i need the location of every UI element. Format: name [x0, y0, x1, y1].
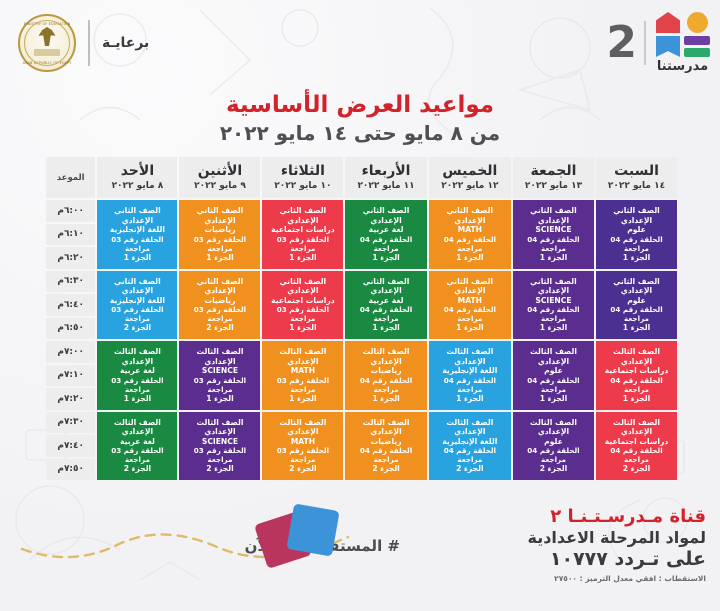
day-date: ١٢ مايو ٢٠٢٢ — [431, 181, 509, 191]
programme-subject: علوم — [516, 437, 591, 446]
bar-icon — [684, 36, 710, 45]
programme-subject: رياضيات — [182, 296, 257, 305]
programme-grade: الصف الثالث الإعدادي — [100, 347, 174, 366]
programme-grade: الصف الثالث الإعدادي — [432, 347, 508, 366]
page-subtitle: من ٨ مايو حتى ١٤ مايو ٢٠٢٢ — [0, 121, 720, 145]
page-footer: # المستقبل يبدأ الآن قناة مـدرسـتـنـا ٢ … — [0, 491, 720, 611]
programme-subject: علوم — [599, 225, 674, 234]
programme-part: الجزء 1 — [265, 394, 340, 403]
branding-divider — [644, 21, 646, 65]
programme-cell[interactable]: الصف الثالث الإعداديرياضياتالحلقة رقم 04… — [345, 412, 426, 481]
programme-subject: رياضيات — [348, 366, 423, 375]
programme-episode: الحلقة رقم 04 مراجعة — [599, 446, 674, 464]
time-slot: ٦:١٠م — [46, 224, 95, 246]
time-slot: ٧:١٠م — [46, 365, 95, 387]
programme-grade: الصف الثاني الإعدادي — [100, 206, 174, 225]
time-column-header: الموعد — [46, 157, 95, 198]
programme-cell[interactable]: الصف الثالث الإعداديعلومالحلقة رقم 04 مر… — [513, 412, 594, 481]
programme-grade: الصف الثالث الإعدادي — [516, 418, 591, 437]
programme-subject: SCIENCE — [182, 366, 257, 375]
programme-part: الجزء 1 — [432, 394, 508, 403]
programme-subject: SCIENCE — [182, 437, 257, 446]
programme-cell[interactable]: الصف الثالث الإعداديSCIENCEالحلقة رقم 03… — [179, 341, 260, 410]
programme-cell[interactable]: الصف الثاني الإعداديعلومالحلقة رقم 04 مر… — [596, 271, 677, 340]
programme-subject: لغة عربية — [348, 296, 423, 305]
programme-subject: علوم — [599, 296, 674, 305]
programme-subject: اللغة الإنجليزية — [432, 437, 508, 446]
time-slot: ٦:٠٠م — [46, 200, 95, 222]
programme-subject: رياضيات — [348, 437, 423, 446]
programme-episode: الحلقة رقم 04 مراجعة — [432, 376, 508, 394]
schedule-row: الصف الثالث الإعداديدراسات اجتماعيةالحلق… — [46, 341, 677, 363]
day-name: الجمعة — [515, 163, 592, 179]
programme-grade: الصف الثالث الإعدادي — [348, 418, 423, 437]
programme-subject: SCIENCE — [516, 296, 591, 305]
programme-cell[interactable]: الصف الثالث الإعداديدراسات اجتماعيةالحلق… — [596, 412, 677, 481]
programme-cell[interactable]: الصف الثاني الإعداديعلومالحلقة رقم 04 مر… — [596, 200, 677, 269]
programme-cell[interactable]: الصف الثالث الإعدادياللغة الإنجليزيةالحل… — [429, 341, 511, 410]
programme-episode: الحلقة رقم 04 مراجعة — [432, 305, 508, 323]
programme-part: الجزء 1 — [599, 323, 674, 332]
programme-episode: الحلقة رقم 03 مراجعة — [182, 235, 257, 253]
programme-part: الجزء 2 — [599, 464, 674, 473]
programme-cell[interactable]: الصف الثاني الإعداديMATHالحلقة رقم 04 مر… — [429, 200, 511, 269]
programme-cell[interactable]: الصف الثاني الإعداديلغة عربيةالحلقة رقم … — [345, 200, 426, 269]
channel-info-block: قناة مـدرسـتـنـا ٢ لمواد المرحلة الاعداد… — [527, 506, 706, 583]
schedule-row: الصف الثاني الإعداديعلومالحلقة رقم 04 مر… — [46, 200, 677, 222]
programme-cell[interactable]: الصف الثالث الإعدادياللغة الإنجليزيةالحل… — [429, 412, 511, 481]
programme-cell[interactable]: الصف الثاني الإعداديلغة عربيةالحلقة رقم … — [345, 271, 426, 340]
programme-grade: الصف الثالث الإعدادي — [516, 347, 591, 366]
day-name: الأحد — [99, 163, 175, 179]
programme-grade: الصف الثاني الإعدادي — [348, 206, 423, 225]
programme-subject: اللغة الإنجليزية — [100, 296, 174, 305]
seal-banner — [34, 49, 60, 56]
schedule-body: الصف الثاني الإعداديعلومالحلقة رقم 04 مر… — [46, 200, 677, 480]
programme-subject: اللغة الإنجليزية — [100, 225, 174, 234]
eagle-icon — [39, 27, 56, 46]
programme-part: الجزء 1 — [348, 253, 423, 262]
programme-part: الجزء 1 — [432, 323, 508, 332]
programme-grade: الصف الثاني الإعدادي — [348, 277, 423, 296]
programme-subject: اللغة الإنجليزية — [432, 366, 508, 375]
programme-grade: الصف الثاني الإعدادي — [265, 277, 340, 296]
programme-cell[interactable]: الصف الثالث الإعداديSCIENCEالحلقة رقم 03… — [179, 412, 260, 481]
programme-subject: دراسات اجتماعية — [265, 225, 340, 234]
time-slot: ٦:٣٠م — [46, 271, 95, 293]
day-date: ١٠ مايو ٢٠٢٢ — [264, 181, 341, 191]
day-header-5: الأثنين٩ مايو ٢٠٢٢ — [179, 157, 260, 198]
page-header: MINISTRY OF EDUCATION ARAB REPUBLIC OF E… — [0, 0, 720, 86]
programme-grade: الصف الثاني الإعدادي — [182, 277, 257, 296]
footer-frequency-line: على تـردد ١٠٧٧٧ — [527, 548, 706, 570]
programme-part: الجزء 1 — [516, 253, 591, 262]
day-date: ١٣ مايو ٢٠٢٢ — [515, 181, 592, 191]
time-slot: ٧:٥٠م — [46, 459, 95, 481]
schedule-row: الصف الثاني الإعداديعلومالحلقة رقم 04 مر… — [46, 271, 677, 293]
programme-part: الجزء 2 — [182, 464, 257, 473]
bar-icon — [684, 48, 710, 57]
programme-subject: دراسات اجتماعية — [599, 366, 674, 375]
programme-grade: الصف الثالث الإعدادي — [348, 347, 423, 366]
sponsor-block: MINISTRY OF EDUCATION ARAB REPUBLIC OF E… — [18, 14, 149, 72]
programme-episode: الحلقة رقم 03 مراجعة — [265, 446, 340, 464]
programme-part: الجزء 1 — [348, 394, 423, 403]
programme-episode: الحلقة رقم 03 مراجعة — [100, 446, 174, 464]
time-slot: ٦:٢٠م — [46, 247, 95, 269]
flag-icon — [656, 36, 680, 57]
programme-cell[interactable]: الصف الثاني الإعدادياللغة الإنجليزيةالحل… — [97, 200, 177, 269]
seal-top-text: MINISTRY OF EDUCATION — [20, 22, 74, 26]
schedule-table-wrapper: السبت١٤ مايو ٢٠٢٢الجمعة١٣ مايو ٢٠٢٢الخمي… — [44, 155, 679, 482]
footer-purpose-line: لمواد المرحلة الاعدادية — [527, 528, 706, 547]
programme-cell[interactable]: الصف الثالث الإعداديرياضياتالحلقة رقم 04… — [345, 341, 426, 410]
programme-episode: الحلقة رقم 04 مراجعة — [516, 235, 591, 253]
cubes-decoration — [258, 499, 344, 575]
programme-episode: الحلقة رقم 03 مراجعة — [265, 235, 340, 253]
programme-part: الجزء 1 — [432, 253, 508, 262]
channel-number: 2 — [606, 21, 635, 65]
infographic-page: MINISTRY OF EDUCATION ARAB REPUBLIC OF E… — [0, 0, 720, 611]
blue-cube-icon — [286, 503, 339, 556]
programme-cell[interactable]: الصف الثاني الإعداديرياضياتالحلقة رقم 03… — [179, 200, 260, 269]
programme-subject: MATH — [265, 366, 340, 375]
programme-cell[interactable]: الصف الثاني الإعداديSCIENCEالحلقة رقم 04… — [513, 271, 594, 340]
programme-episode: الحلقة رقم 04 مراجعة — [432, 235, 508, 253]
programme-grade: الصف الثالث الإعدادي — [182, 347, 257, 366]
programme-episode: الحلقة رقم 03 مراجعة — [100, 305, 174, 323]
programme-episode: الحلقة رقم 03 مراجعة — [182, 446, 257, 464]
programme-subject: MATH — [432, 225, 508, 234]
day-date: ٨ مايو ٢٠٢٢ — [99, 181, 175, 191]
programme-episode: الحلقة رقم 03 مراجعة — [100, 235, 174, 253]
programme-subject: علوم — [516, 366, 591, 375]
programme-part: الجزء 2 — [100, 464, 174, 473]
programme-cell[interactable]: الصف الثاني الإعداديدراسات اجتماعيةالحلق… — [262, 200, 343, 269]
programme-episode: الحلقة رقم 04 مراجعة — [599, 376, 674, 394]
programme-episode: الحلقة رقم 04 مراجعة — [516, 305, 591, 323]
time-slot: ٦:٤٠م — [46, 294, 95, 316]
programme-subject: لغة عربية — [100, 437, 174, 446]
programme-subject: SCIENCE — [516, 225, 591, 234]
seal-bottom-text: ARAB REPUBLIC OF EGYPT — [20, 61, 74, 65]
programme-grade: الصف الثاني الإعدادي — [516, 277, 591, 296]
programme-grade: الصف الثاني الإعدادي — [182, 206, 257, 225]
programme-subject: لغة عربية — [348, 225, 423, 234]
programme-episode: الحلقة رقم 04 مراجعة — [348, 376, 423, 394]
programme-episode: الحلقة رقم 03 مراجعة — [182, 305, 257, 323]
day-date: ١١ مايو ٢٠٢٢ — [347, 181, 424, 191]
programme-grade: الصف الثاني الإعدادي — [265, 206, 340, 225]
ministry-seal-icon: MINISTRY OF EDUCATION ARAB REPUBLIC OF E… — [18, 14, 76, 72]
programme-part: الجزء 2 — [516, 464, 591, 473]
circle-icon — [687, 12, 708, 33]
programme-grade: الصف الثاني الإعدادي — [432, 206, 508, 225]
programme-part: الجزء 1 — [100, 394, 174, 403]
time-slot: ٧:٣٠م — [46, 412, 95, 434]
madrasatna-logo: مدرستنا — [655, 12, 710, 74]
programme-grade: الصف الثالث الإعدادي — [182, 418, 257, 437]
house-icon — [656, 12, 680, 33]
programme-grade: الصف الثاني الإعدادي — [432, 277, 508, 296]
header-divider — [88, 20, 90, 66]
programme-episode: الحلقة رقم 04 مراجعة — [599, 235, 674, 253]
channel-name: مدرستنا — [655, 59, 710, 74]
day-name: الخميس — [431, 163, 509, 179]
time-slot: ٦:٥٠م — [46, 318, 95, 340]
day-date: ٩ مايو ٢٠٢٢ — [181, 181, 258, 191]
programme-episode: الحلقة رقم 03 مراجعة — [182, 376, 257, 394]
logo-grid — [655, 12, 710, 57]
programme-episode: الحلقة رقم 04 مراجعة — [348, 305, 423, 323]
programme-part: الجزء 2 — [265, 464, 340, 473]
programme-episode: الحلقة رقم 03 مراجعة — [265, 305, 340, 323]
channel-branding: مدرستنا 2 — [606, 12, 710, 74]
programme-grade: الصف الثالث الإعدادي — [599, 418, 674, 437]
programme-cell[interactable]: الصف الثالث الإعداديعلومالحلقة رقم 04 مر… — [513, 341, 594, 410]
programme-grade: الصف الثالث الإعدادي — [100, 418, 174, 437]
programme-grade: الصف الثاني الإعدادي — [100, 277, 174, 296]
programme-cell[interactable]: الصف الثاني الإعداديدراسات اجتماعيةالحلق… — [262, 271, 343, 340]
programme-grade: الصف الثاني الإعدادي — [599, 277, 674, 296]
day-name: الثلاثاء — [264, 163, 341, 179]
day-name: الأربعاء — [347, 163, 424, 179]
programme-cell[interactable]: الصف الثالث الإعداديدراسات اجتماعيةالحلق… — [596, 341, 677, 410]
programme-cell[interactable]: الصف الثالث الإعداديلغة عربيةالحلقة رقم … — [97, 341, 177, 410]
footer-technical-line: الاستقطاب : افقي معدل الترميز : ٢٧٥٠٠ — [527, 574, 706, 583]
programme-grade: الصف الثالث الإعدادي — [265, 418, 340, 437]
programme-part: الجزء 1 — [100, 253, 174, 262]
day-date: ١٤ مايو ٢٠٢٢ — [598, 181, 675, 191]
programme-part: الجزء 1 — [516, 394, 591, 403]
programme-episode: الحلقة رقم 04 مراجعة — [599, 305, 674, 323]
sponsor-label: برعايـة — [102, 35, 149, 51]
programme-grade: الصف الثالث الإعدادي — [265, 347, 340, 366]
programme-subject: دراسات اجتماعية — [599, 437, 674, 446]
programme-part: الجزء 1 — [516, 323, 591, 332]
day-header-0: السبت١٤ مايو ٢٠٢٢ — [596, 157, 677, 198]
programme-subject: MATH — [265, 437, 340, 446]
programme-grade: الصف الثاني الإعدادي — [516, 206, 591, 225]
day-header-3: الأربعاء١١ مايو ٢٠٢٢ — [345, 157, 426, 198]
programme-part: الجزء 1 — [348, 323, 423, 332]
schedule-head: السبت١٤ مايو ٢٠٢٢الجمعة١٣ مايو ٢٠٢٢الخمي… — [46, 157, 677, 198]
schedule-row: الصف الثالث الإعداديدراسات اجتماعيةالحلق… — [46, 412, 677, 434]
day-name: الأثنين — [181, 163, 258, 179]
programme-subject: دراسات اجتماعية — [265, 296, 340, 305]
day-header-1: الجمعة١٣ مايو ٢٠٢٢ — [513, 157, 594, 198]
programme-part: الجزء 1 — [265, 253, 340, 262]
programme-part: الجزء 2 — [100, 323, 174, 332]
programme-part: الجزء 1 — [599, 253, 674, 262]
programme-episode: الحلقة رقم 04 مراجعة — [348, 446, 423, 464]
programme-part: الجزء 1 — [599, 394, 674, 403]
programme-episode: الحلقة رقم 04 مراجعة — [516, 376, 591, 394]
programme-grade: الصف الثالث الإعدادي — [432, 418, 508, 437]
programme-subject: MATH — [432, 296, 508, 305]
programme-part: الجزء 1 — [182, 253, 257, 262]
programme-grade: الصف الثالث الإعدادي — [599, 347, 674, 366]
programme-part: الجزء 1 — [182, 394, 257, 403]
footer-channel-line: قناة مـدرسـتـنـا ٢ — [527, 506, 706, 527]
programme-cell[interactable]: الصف الثالث الإعداديMATHالحلقة رقم 03 مر… — [262, 341, 343, 410]
title-block: مواعيد العرض الأساسية من ٨ مايو حتى ١٤ م… — [0, 92, 720, 145]
time-slot: ٧:٠٠م — [46, 341, 95, 363]
time-slot: ٧:٤٠م — [46, 435, 95, 457]
day-header-4: الثلاثاء١٠ مايو ٢٠٢٢ — [262, 157, 343, 198]
page-title: مواعيد العرض الأساسية — [0, 92, 720, 118]
programme-episode: الحلقة رقم 03 مراجعة — [265, 376, 340, 394]
programme-cell[interactable]: الصف الثاني الإعداديSCIENCEالحلقة رقم 04… — [513, 200, 594, 269]
day-header-6: الأحد٨ مايو ٢٠٢٢ — [97, 157, 177, 198]
programme-part: الجزء 2 — [432, 464, 508, 473]
schedule-table: السبت١٤ مايو ٢٠٢٢الجمعة١٣ مايو ٢٠٢٢الخمي… — [44, 155, 679, 482]
programme-cell[interactable]: الصف الثاني الإعداديMATHالحلقة رقم 04 مر… — [429, 271, 511, 340]
programme-episode: الحلقة رقم 04 مراجعة — [516, 446, 591, 464]
programme-cell[interactable]: الصف الثاني الإعداديرياضياتالحلقة رقم 03… — [179, 271, 260, 340]
day-header-2: الخميس١٢ مايو ٢٠٢٢ — [429, 157, 511, 198]
programme-cell[interactable]: الصف الثاني الإعدادياللغة الإنجليزيةالحل… — [97, 271, 177, 340]
day-name: السبت — [598, 163, 675, 179]
programme-episode: الحلقة رقم 04 مراجعة — [348, 235, 423, 253]
programme-part: الجزء 2 — [348, 464, 423, 473]
programme-episode: الحلقة رقم 04 مراجعة — [432, 446, 508, 464]
programme-cell[interactable]: الصف الثالث الإعداديلغة عربيةالحلقة رقم … — [97, 412, 177, 481]
time-slot: ٧:٢٠م — [46, 388, 95, 410]
programme-grade: الصف الثاني الإعدادي — [599, 206, 674, 225]
programme-subject: لغة عربية — [100, 366, 174, 375]
programme-episode: الحلقة رقم 03 مراجعة — [100, 376, 174, 394]
programme-cell[interactable]: الصف الثالث الإعداديMATHالحلقة رقم 03 مر… — [262, 412, 343, 481]
programme-part: الجزء 2 — [182, 323, 257, 332]
programme-part: الجزء 1 — [265, 323, 340, 332]
day-header-row: السبت١٤ مايو ٢٠٢٢الجمعة١٣ مايو ٢٠٢٢الخمي… — [46, 157, 677, 198]
programme-subject: رياضيات — [182, 225, 257, 234]
